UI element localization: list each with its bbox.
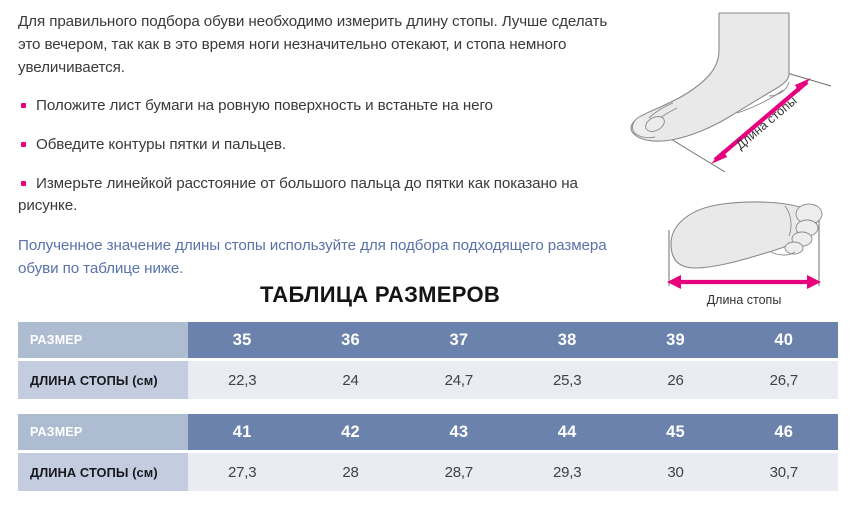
length-cell: 26 [621, 361, 729, 399]
intro-paragraph: Для правильного подбора обуви необходимо… [18, 10, 618, 79]
measure-arrow-icon [667, 275, 821, 289]
list-item: Обведите контуры пятки и пальцев. [18, 134, 618, 156]
row-label-length: ДЛИНА СТОПЫ (см) [18, 453, 188, 491]
length-cells: 22,3 24 24,7 25,3 26 26,7 [188, 361, 838, 399]
step-text: Обведите контуры пятки и пальцев. [36, 136, 286, 153]
size-cell: 36 [296, 322, 404, 358]
length-cell: 26,7 [730, 361, 838, 399]
length-cell: 22,3 [188, 361, 296, 399]
length-cell: 28 [296, 453, 404, 491]
table-row: ДЛИНА СТОПЫ (см) 27,3 28 28,7 29,3 30 30… [18, 453, 838, 491]
length-cell: 30,7 [730, 453, 838, 491]
size-cells: 35 36 37 38 39 40 [188, 322, 838, 358]
length-cell: 29,3 [513, 453, 621, 491]
bullet-dot-icon [21, 142, 26, 147]
size-cell: 37 [405, 322, 513, 358]
bullet-dot-icon [21, 181, 26, 186]
length-cell: 24 [296, 361, 404, 399]
list-item: Измерьте линейкой расстояние от большого… [18, 173, 618, 217]
list-item: Положите лист бумаги на ровную поверхнос… [18, 95, 618, 117]
sole-silhouette [671, 202, 822, 268]
bullet-dot-icon [21, 103, 26, 108]
step-text: Измерьте линейкой расстояние от большого… [18, 175, 578, 214]
instructions-column: Для правильного подбора обуви необходимо… [18, 10, 618, 280]
size-cell: 42 [296, 414, 404, 450]
measure-label: Длина стопы [707, 293, 782, 307]
size-cell: 38 [513, 322, 621, 358]
table-row: РАЗМЕР 35 36 37 38 39 40 [18, 322, 838, 358]
row-label-size: РАЗМЕР [18, 322, 188, 358]
length-cell: 25,3 [513, 361, 621, 399]
size-cell: 46 [730, 414, 838, 450]
size-table-1: РАЗМЕР 35 36 37 38 39 40 ДЛИНА СТОПЫ (см… [18, 322, 838, 399]
size-cell: 43 [405, 414, 513, 450]
size-cell: 44 [513, 414, 621, 450]
row-label-size: РАЗМЕР [18, 414, 188, 450]
size-cell: 40 [730, 322, 838, 358]
foot-sole-view-illustration: Длина стопы [619, 182, 843, 314]
foot-side-view-illustration: Длина стопы [619, 0, 843, 178]
size-cells: 41 42 43 44 45 46 [188, 414, 838, 450]
size-cell: 41 [188, 414, 296, 450]
step-text: Положите лист бумаги на ровную поверхнос… [36, 97, 493, 114]
note-text: Полученное значение длины стопы использу… [18, 234, 618, 280]
size-cell: 45 [621, 414, 729, 450]
table-row: ДЛИНА СТОПЫ (см) 22,3 24 24,7 25,3 26 26… [18, 361, 838, 399]
size-cell: 35 [188, 322, 296, 358]
length-cell: 27,3 [188, 453, 296, 491]
length-cell: 28,7 [405, 453, 513, 491]
table-row: РАЗМЕР 41 42 43 44 45 46 [18, 414, 838, 450]
length-cells: 27,3 28 28,7 29,3 30 30,7 [188, 453, 838, 491]
size-cell: 39 [621, 322, 729, 358]
length-cell: 24,7 [405, 361, 513, 399]
length-cell: 30 [621, 453, 729, 491]
size-table-2: РАЗМЕР 41 42 43 44 45 46 ДЛИНА СТОПЫ (см… [18, 414, 838, 491]
steps-list: Положите лист бумаги на ровную поверхнос… [18, 95, 618, 217]
row-label-length: ДЛИНА СТОПЫ (см) [18, 361, 188, 399]
